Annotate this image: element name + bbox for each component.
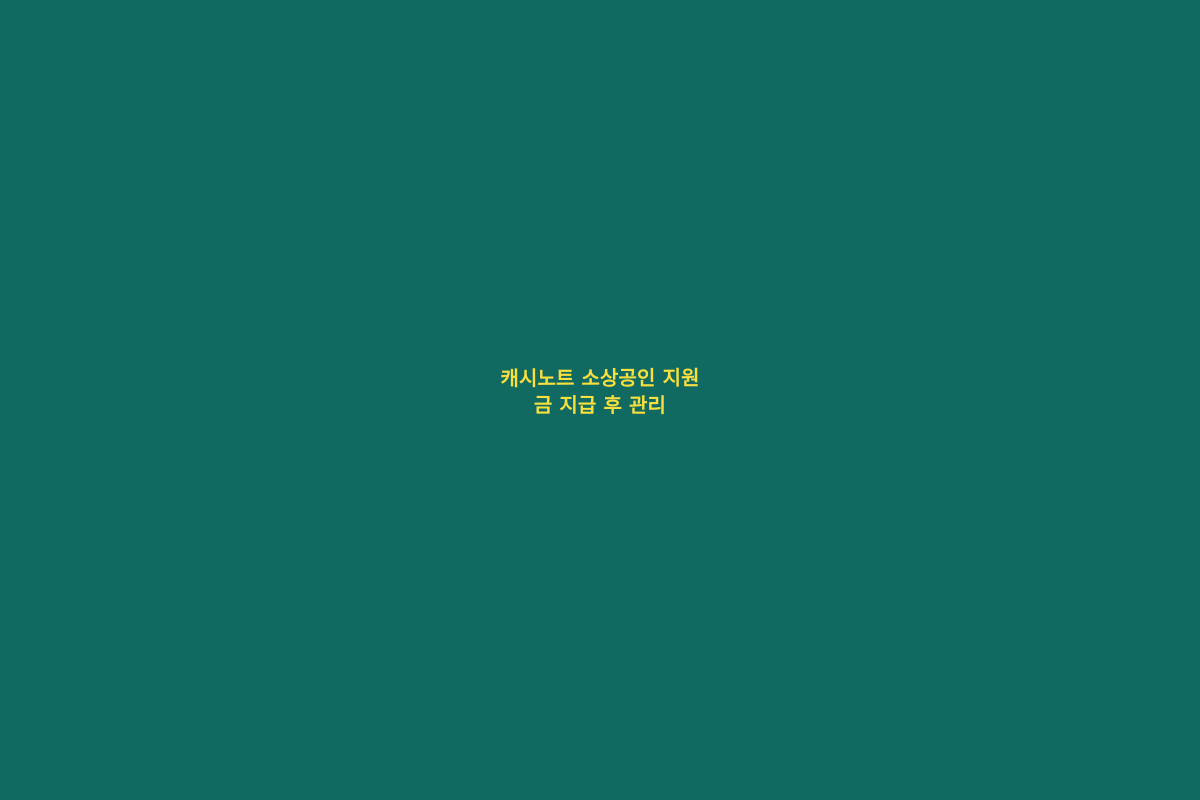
thumbnail-card: 캐시노트 소상공인 지원 금 지급 후 관리 <box>0 0 1200 800</box>
title-line-1: 캐시노트 소상공인 지원 <box>40 363 1160 394</box>
title-text-block: 캐시노트 소상공인 지원 금 지급 후 관리 <box>0 365 1200 418</box>
title-line-2: 금 지급 후 관리 <box>40 391 1160 421</box>
